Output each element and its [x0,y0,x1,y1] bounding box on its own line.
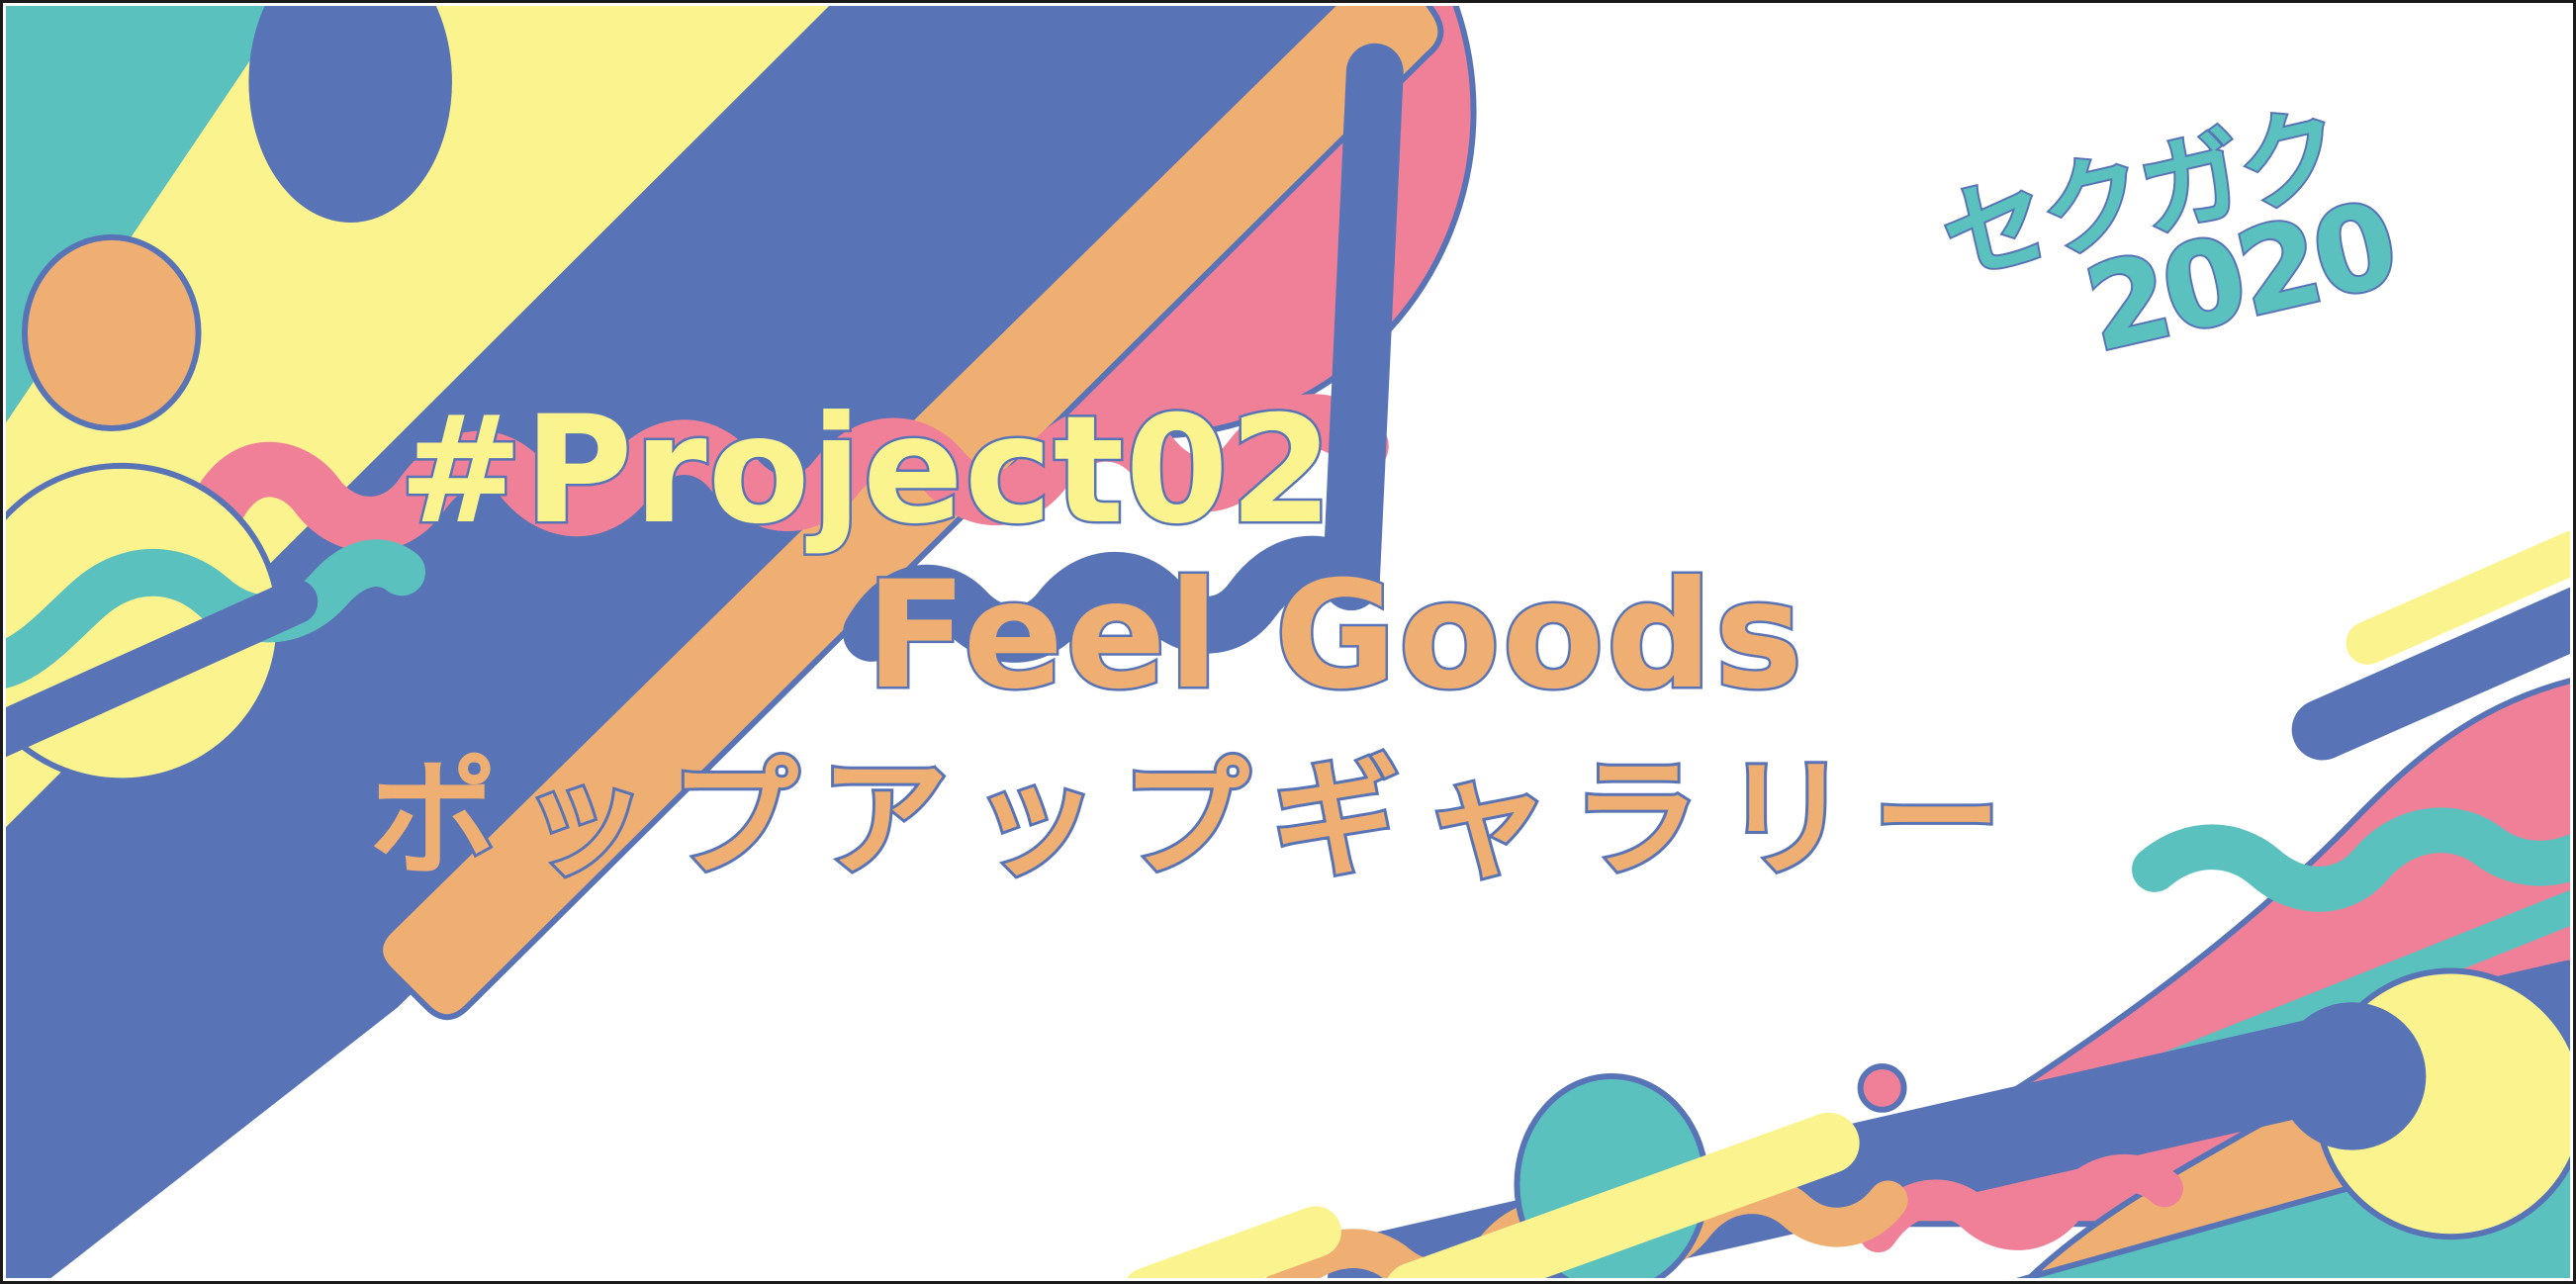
sekugaku-2020-logo: セクガク 2020 [1934,70,2515,451]
yellow-stripe-bottomleft [1148,1232,1316,1281]
headline-line-project: #Project02 [399,397,1334,545]
blue-circle-bottomright [2281,1005,2424,1146]
teal-region-bottomright [2016,1116,2573,1281]
yellow-diagonal-band [3,3,1484,1066]
teal-corner-wedge [3,3,1286,1281]
pink-region-bottomright [1819,673,2573,1224]
blue-stripe-left [3,601,295,751]
blue-wave-ribbon-top [872,72,1375,634]
yellow-circle-left [3,466,279,781]
yellow-circle-bottomright [2318,970,2573,1237]
headline-line-feel-goods: Feel Goods [866,562,1804,710]
yellow-band-overlay [3,3,891,889]
blue-stripe-right-upper [2323,603,2573,729]
logo-year-text: 2020 [2076,185,2404,368]
logo-kana-text: セクガク [1934,99,2350,290]
blue-dot-small-top [814,286,866,347]
blue-ellipse-topleft [251,3,449,220]
orange-stripe-diagonal [380,3,1440,1017]
pink-circle-top [822,3,1473,436]
poster-canvas: #Project02 Feel Goods ポップアップギャラリー セクガク 2… [0,0,2576,1284]
headline-line-japanese: ポップアップギャラリー [369,755,2023,883]
blue-diagonal-band-overlay [3,3,1405,1281]
pink-dot-small-bottom [1861,1066,1904,1110]
teal-wave-ribbon-left [3,563,402,667]
teal-wave-right [2155,830,2573,889]
orange-band-bottomright [2026,997,2573,1281]
blue-diagonal-band [3,3,1464,1281]
teal-thin-stripe-bottomright [1928,907,2573,1165]
pink-wave-bottom [1879,1173,2164,1234]
yellow-stripe-bottomcenter [1415,1144,1829,1281]
blue-wide-stripe-bottom [1375,1007,2573,1281]
teal-circle-bottomcenter [1517,1076,1706,1281]
orange-ellipse-left [25,237,199,428]
orange-wave-bottomcenter [1286,1194,1888,1281]
yellow-stripe-right-upper [2367,552,2573,643]
decorative-artwork [3,3,2573,1281]
headline-block: #Project02 Feel Goods ポップアップギャラリー [3,3,2573,1281]
pink-wave-ribbon [217,421,1361,524]
